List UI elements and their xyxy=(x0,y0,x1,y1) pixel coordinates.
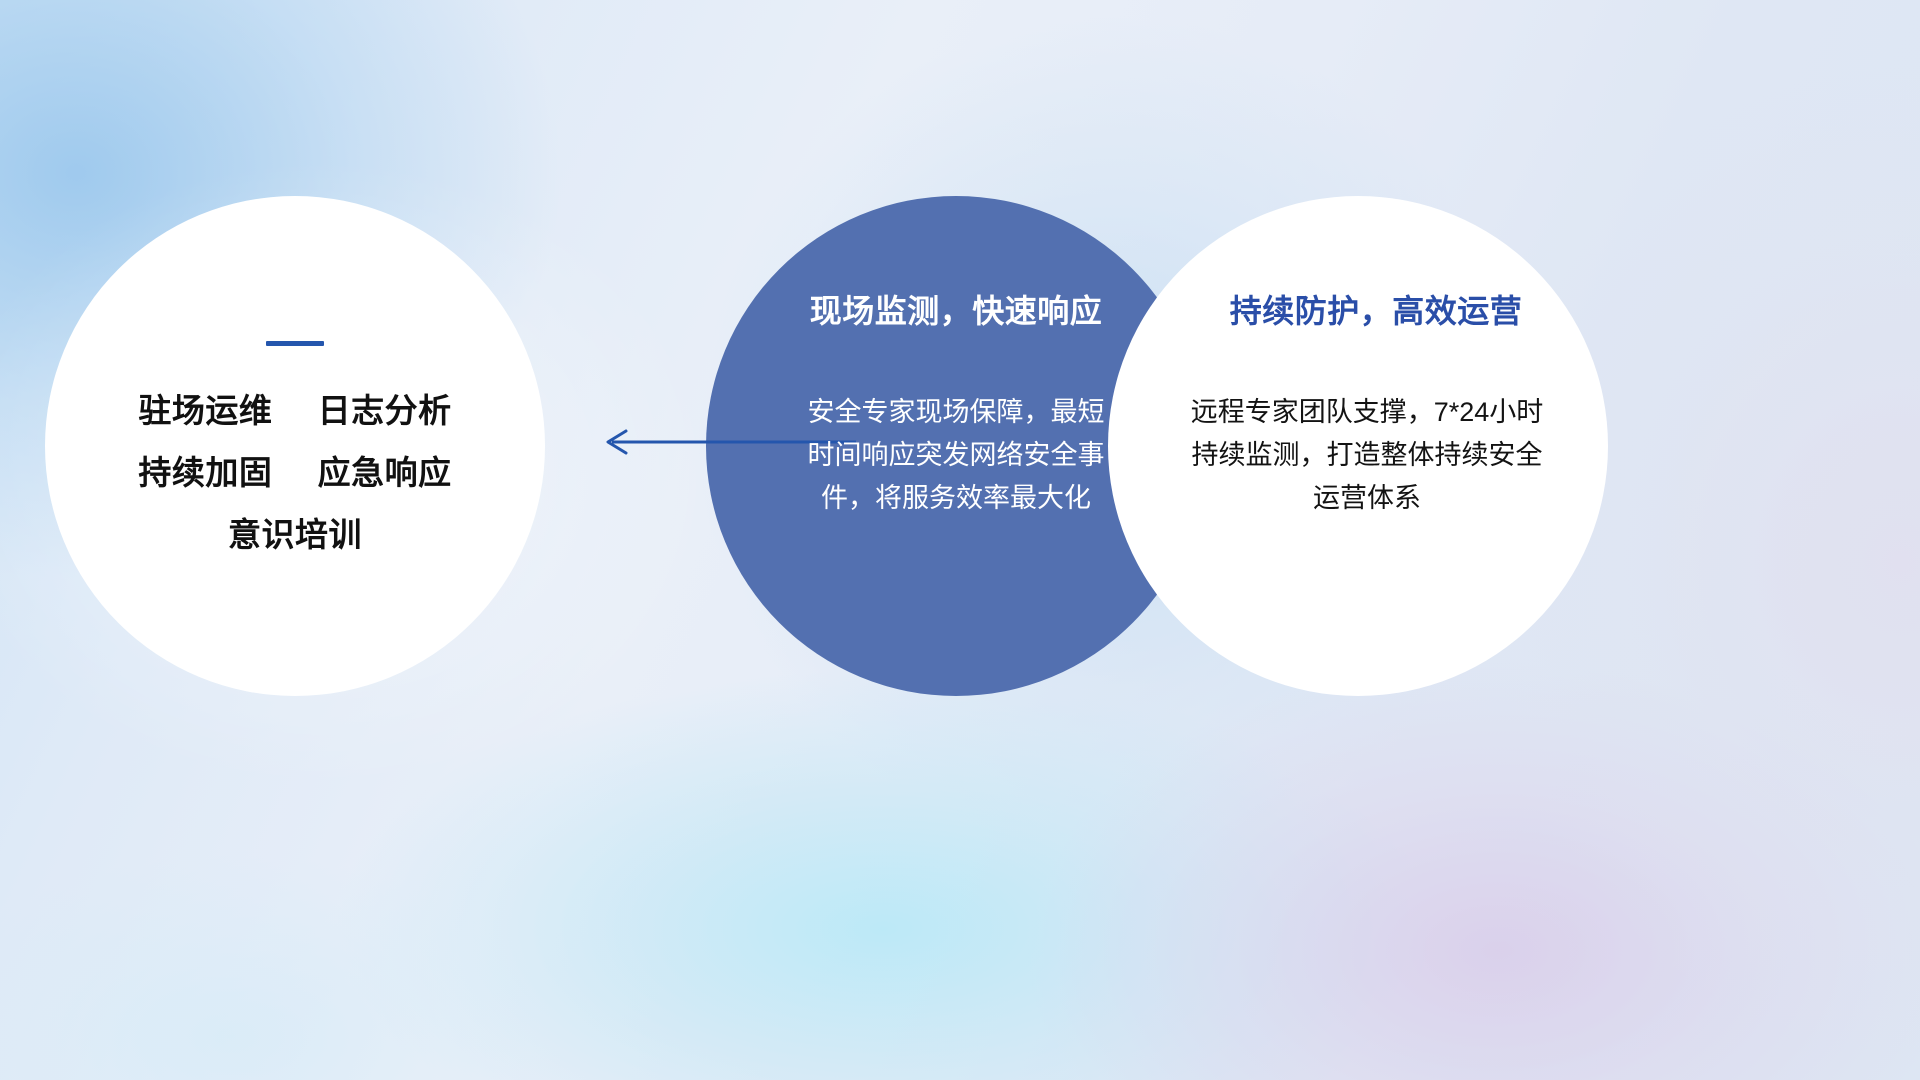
capability-label-emergency-response: 应急响应 xyxy=(318,454,452,491)
capability-label-onsite-ops: 驻场运维 xyxy=(138,392,272,429)
capability-label-hardening: 持续加固 xyxy=(138,454,272,491)
slide-canvas: 驻场运维 日志分析 持续加固 应急响应 意识培训 现场监测，快速响应 安全专家现… xyxy=(0,0,1920,1080)
right-circle-body: 远程专家团队支撑，7*24小时持续监测，打造整体持续安全运营体系 xyxy=(1164,391,1552,519)
capability-row-1: 驻场运维 日志分析 xyxy=(138,394,451,427)
divider-rule xyxy=(266,341,324,346)
middle-circle-title: 现场监测，快速响应 xyxy=(810,294,1103,329)
left-circle-content: 驻场运维 日志分析 持续加固 应急响应 意识培训 xyxy=(45,196,545,696)
right-circle-title: 持续防护，高效运营 xyxy=(1194,294,1523,329)
capability-row-2: 持续加固 应急响应 xyxy=(138,456,451,489)
capability-label-awareness-training: 意识培训 xyxy=(228,518,362,551)
capability-label-log-analysis: 日志分析 xyxy=(318,392,452,429)
middle-circle-body: 安全专家现场保障，最短时间响应突发网络安全事件，将服务效率最大化 xyxy=(806,391,1106,519)
right-circle-content: 持续防护，高效运营 远程专家团队支撑，7*24小时持续监测，打造整体持续安全运营… xyxy=(1108,196,1608,696)
